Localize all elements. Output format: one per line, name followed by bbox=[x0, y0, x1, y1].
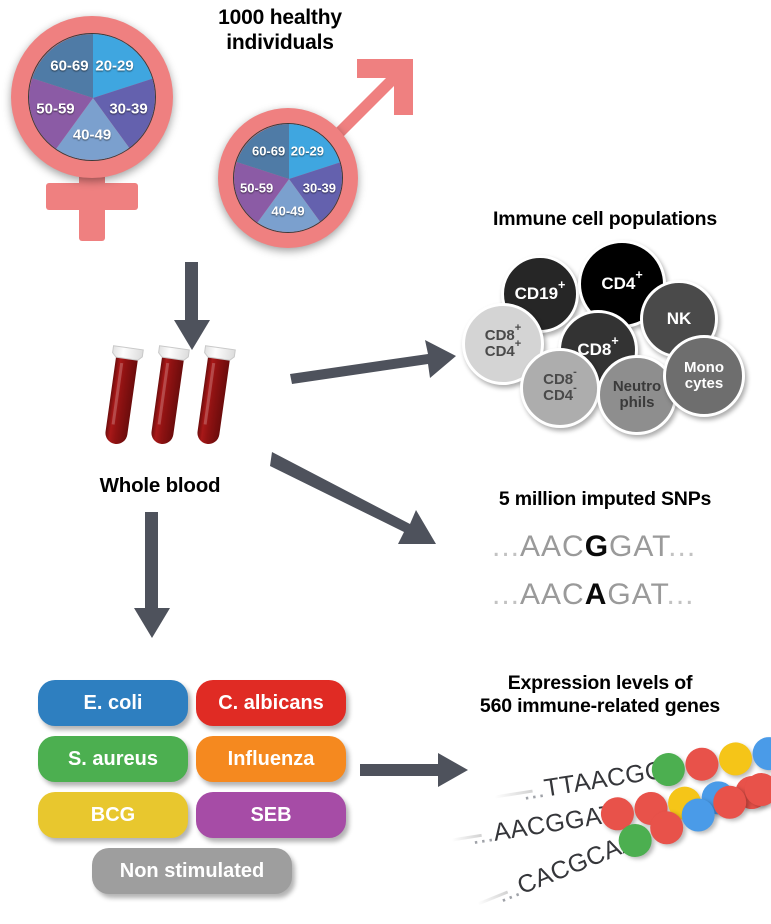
gene-expression-strands: ...TTAACGG...AACGGAT...CACGCAA bbox=[0, 0, 771, 922]
figure-canvas: 1000 healthy individuals 20-2930-3940-49… bbox=[0, 0, 771, 922]
